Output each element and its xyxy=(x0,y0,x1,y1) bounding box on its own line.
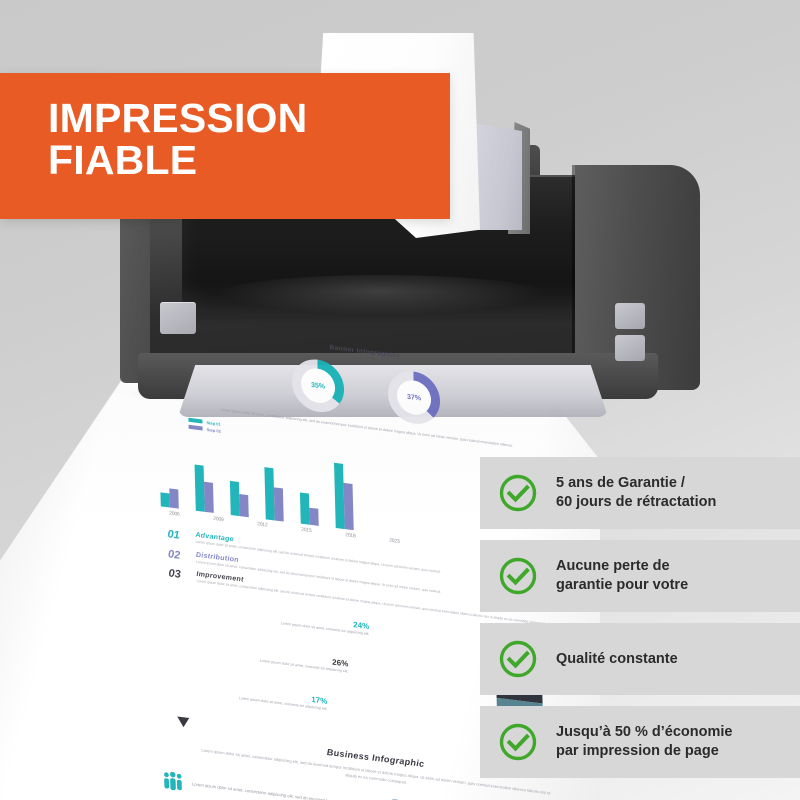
printer-button-right-bottom[interactable] xyxy=(615,335,645,361)
bar-group xyxy=(230,481,249,517)
step-number: 03 xyxy=(168,568,188,583)
feature-label-1-line-1: 5 ans de Garantie / xyxy=(556,474,716,493)
bar-group xyxy=(160,487,178,509)
step-number: 01 xyxy=(167,528,187,543)
funnel-item: 24%Lorem ipsum dolor sit amet, consecte-… xyxy=(249,607,369,637)
legend-label-step-02: Step 02 xyxy=(207,427,221,434)
headline-line-2: FIABLE xyxy=(48,140,450,182)
donut-chart-2-value: 37% xyxy=(397,378,432,416)
bar-x-tick: 2015 xyxy=(293,525,320,534)
promo-image: Banner Infographics 35% 37% Lorem ipsum … xyxy=(0,0,800,800)
check-circle-icon xyxy=(498,722,538,762)
headline-text: IMPRESSION FIABLE xyxy=(0,73,450,182)
feature-label-4: Jusqu’à 50 % d’économie par impression d… xyxy=(556,723,732,761)
headline-line-1: IMPRESSION xyxy=(48,95,307,141)
bar-group xyxy=(334,462,354,530)
bar-group xyxy=(195,464,214,512)
bar-x-tick: 2018 xyxy=(337,531,364,540)
donut-chart-1: 35% xyxy=(291,356,344,415)
feature-label-3: Qualité constante xyxy=(556,650,678,669)
people-group-icon xyxy=(162,770,185,793)
icon-feature-item: Lorem ipsum dolor sit amet, consectetur … xyxy=(377,797,592,800)
funnel-item: 17%Lorem ipsum dolor sit amet, consecte-… xyxy=(207,682,327,712)
feature-label-1: 5 ans de Garantie / 60 jours de rétracta… xyxy=(556,474,716,512)
step-number: 02 xyxy=(168,548,188,563)
bar-step-02 xyxy=(169,488,179,508)
feature-label-4-line-1: Jusqu’à 50 % d’économie xyxy=(556,723,732,742)
headline-banner: IMPRESSION FIABLE xyxy=(0,73,450,219)
bar-step-01 xyxy=(160,493,169,507)
legend-swatch-step-01 xyxy=(188,418,202,424)
check-circle-icon xyxy=(498,473,538,513)
donut-chart-2: 37% xyxy=(387,368,440,427)
bar-group xyxy=(300,492,319,525)
printer-button-right-top[interactable] xyxy=(615,303,645,329)
bar-x-tick: 2006 xyxy=(161,509,188,518)
bar-x-tick: 2012 xyxy=(249,520,276,529)
bar-step-01 xyxy=(230,481,240,516)
icon-feature-text: Lorem ipsum dolor sit amet, consectetur … xyxy=(192,780,363,800)
feature-box-1[interactable]: 5 ans de Garantie / 60 jours de rétracta… xyxy=(480,457,800,529)
printer-drum-highlight xyxy=(216,275,546,315)
feature-box-2[interactable]: Aucune perte de garantie pour votre xyxy=(480,540,800,612)
funnel-item: 26%Lorem ipsum dolor sit amet, consecte-… xyxy=(228,645,348,675)
check-circle-icon xyxy=(498,556,538,596)
feature-box-3[interactable]: Qualité constante xyxy=(480,623,800,695)
bar-step-02 xyxy=(344,483,354,530)
bar-step-02 xyxy=(274,488,284,522)
growth-chart-icon xyxy=(377,797,400,800)
bar-step-02 xyxy=(239,494,249,517)
feature-label-2-line-1: Aucune perte de xyxy=(556,557,688,576)
legend-label-step-01: Step 01 xyxy=(206,420,220,427)
feature-label-2: Aucune perte de garantie pour votre xyxy=(556,557,688,595)
feature-label-3-line-1: Qualité constante xyxy=(556,650,678,669)
feature-label-1-line-2: 60 jours de rétractation xyxy=(556,493,716,512)
pencil-tip-icon xyxy=(177,717,189,729)
feature-label-4-line-2: par impression de page xyxy=(556,742,732,761)
legend-swatch-step-02 xyxy=(189,425,203,431)
bar-step-02 xyxy=(204,482,214,513)
donut-chart-1-value: 35% xyxy=(301,367,336,405)
bar-x-tick: 2009 xyxy=(205,515,232,524)
check-circle-icon xyxy=(498,639,538,679)
bar-step-02 xyxy=(309,508,318,525)
feature-label-2-line-2: garantie pour votre xyxy=(556,576,688,595)
feature-box-4[interactable]: Jusqu’à 50 % d’économie par impression d… xyxy=(480,706,800,778)
bar-step-01 xyxy=(300,492,310,524)
bar-group xyxy=(264,467,283,521)
bar-x-tick: 2023 xyxy=(381,536,408,545)
